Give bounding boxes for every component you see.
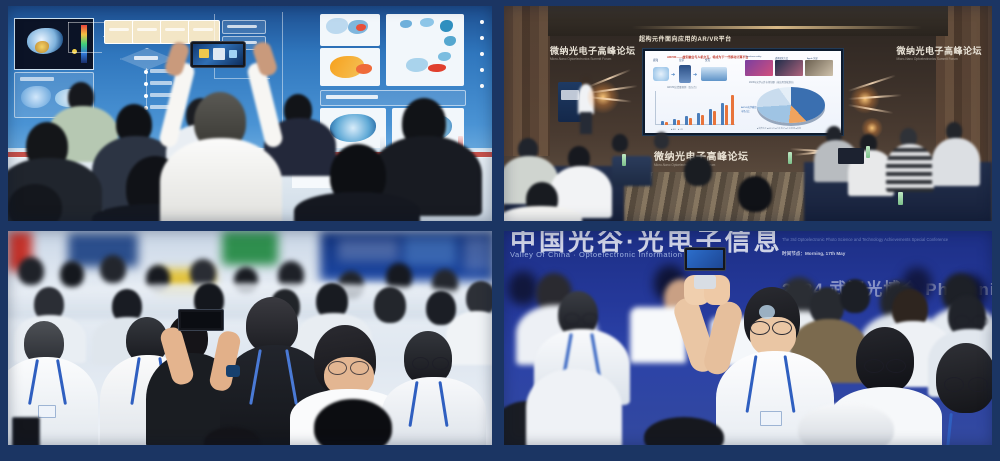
panel-summit-forum-stage: 微纳光电子高峰论坛 Micro-Nano Optoelectronics Sum… <box>504 6 992 221</box>
panel-photonics-conference-audience: 中国光谷·光电子信息 Valley Of China · Optoelectro… <box>504 231 992 445</box>
panel-exhibition-hall-crowd <box>8 231 492 445</box>
panel-exhibition-led-wall <box>8 6 492 221</box>
photo-collage: 微纳光电子高峰论坛 Micro-Nano Optoelectronics Sum… <box>0 0 1000 461</box>
